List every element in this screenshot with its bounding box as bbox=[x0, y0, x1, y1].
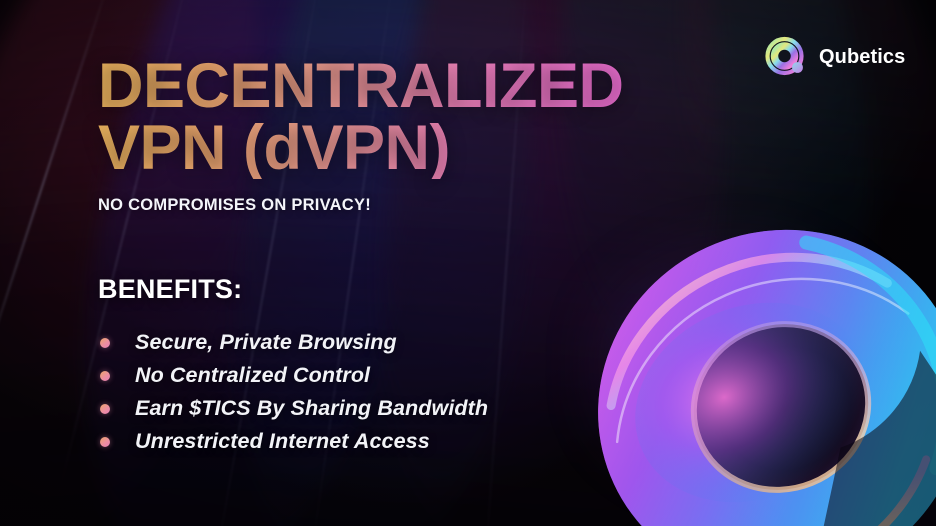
benefits-heading: BENEFITS: bbox=[98, 274, 242, 305]
bullet-dot-icon bbox=[100, 371, 110, 381]
qubetics-logo-icon bbox=[762, 33, 810, 81]
headline-line-2: VPN (dVPN) bbox=[98, 118, 624, 180]
glossy-3d-torus-icon bbox=[566, 192, 936, 526]
benefit-label: Secure, Private Browsing bbox=[135, 330, 397, 355]
page-title: DECENTRALIZED VPN (dVPN) bbox=[98, 56, 624, 179]
list-item: Secure, Private Browsing bbox=[100, 326, 488, 359]
slide-canvas: Qubetics DECENTRALIZED VPN (dVPN) NO COM… bbox=[0, 0, 936, 526]
subheadline: NO COMPROMISES ON PRIVACY! bbox=[98, 196, 371, 215]
benefit-label: Unrestricted Internet Access bbox=[135, 429, 430, 454]
bullet-dot-icon bbox=[100, 338, 110, 348]
brand-name: Qubetics bbox=[819, 47, 905, 67]
list-item: Earn $TICS By Sharing Bandwidth bbox=[100, 392, 488, 425]
bullet-dot-icon bbox=[100, 437, 110, 447]
list-item: No Centralized Control bbox=[100, 359, 488, 392]
headline-line-1: DECENTRALIZED bbox=[98, 56, 624, 118]
benefit-label: No Centralized Control bbox=[135, 363, 370, 388]
benefits-list: Secure, Private Browsing No Centralized … bbox=[100, 326, 488, 458]
list-item: Unrestricted Internet Access bbox=[100, 425, 488, 458]
bullet-dot-icon bbox=[100, 404, 110, 414]
benefit-label: Earn $TICS By Sharing Bandwidth bbox=[135, 396, 488, 421]
brand-logo[interactable]: Qubetics bbox=[762, 33, 905, 81]
